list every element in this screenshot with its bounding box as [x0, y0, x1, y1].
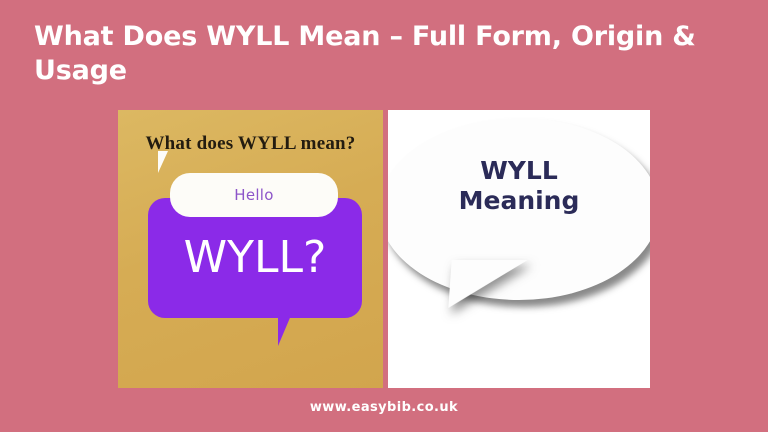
wyll-bubble-tail-icon: [278, 313, 302, 346]
meaning-bubble-label: WYLL Meaning: [388, 156, 650, 216]
page-title: What Does WYLL Mean – Full Form, Origin …: [34, 20, 734, 88]
meaning-bubble-tail-icon: [448, 260, 527, 308]
poster-canvas: What Does WYLL Mean – Full Form, Origin …: [0, 0, 768, 432]
image-comparison-row: What does WYLL mean? Hello WYLL? WYLL Me…: [118, 110, 650, 388]
right-image-panel: WYLL Meaning: [388, 110, 650, 388]
hello-bubble-label: Hello: [170, 173, 338, 217]
left-image-panel: What does WYLL mean? Hello WYLL?: [118, 110, 383, 388]
hello-bubble-tail-icon: [158, 151, 177, 173]
hello-speech-bubble: Hello: [170, 173, 338, 217]
footer-website: www.easybib.co.uk: [0, 400, 768, 415]
